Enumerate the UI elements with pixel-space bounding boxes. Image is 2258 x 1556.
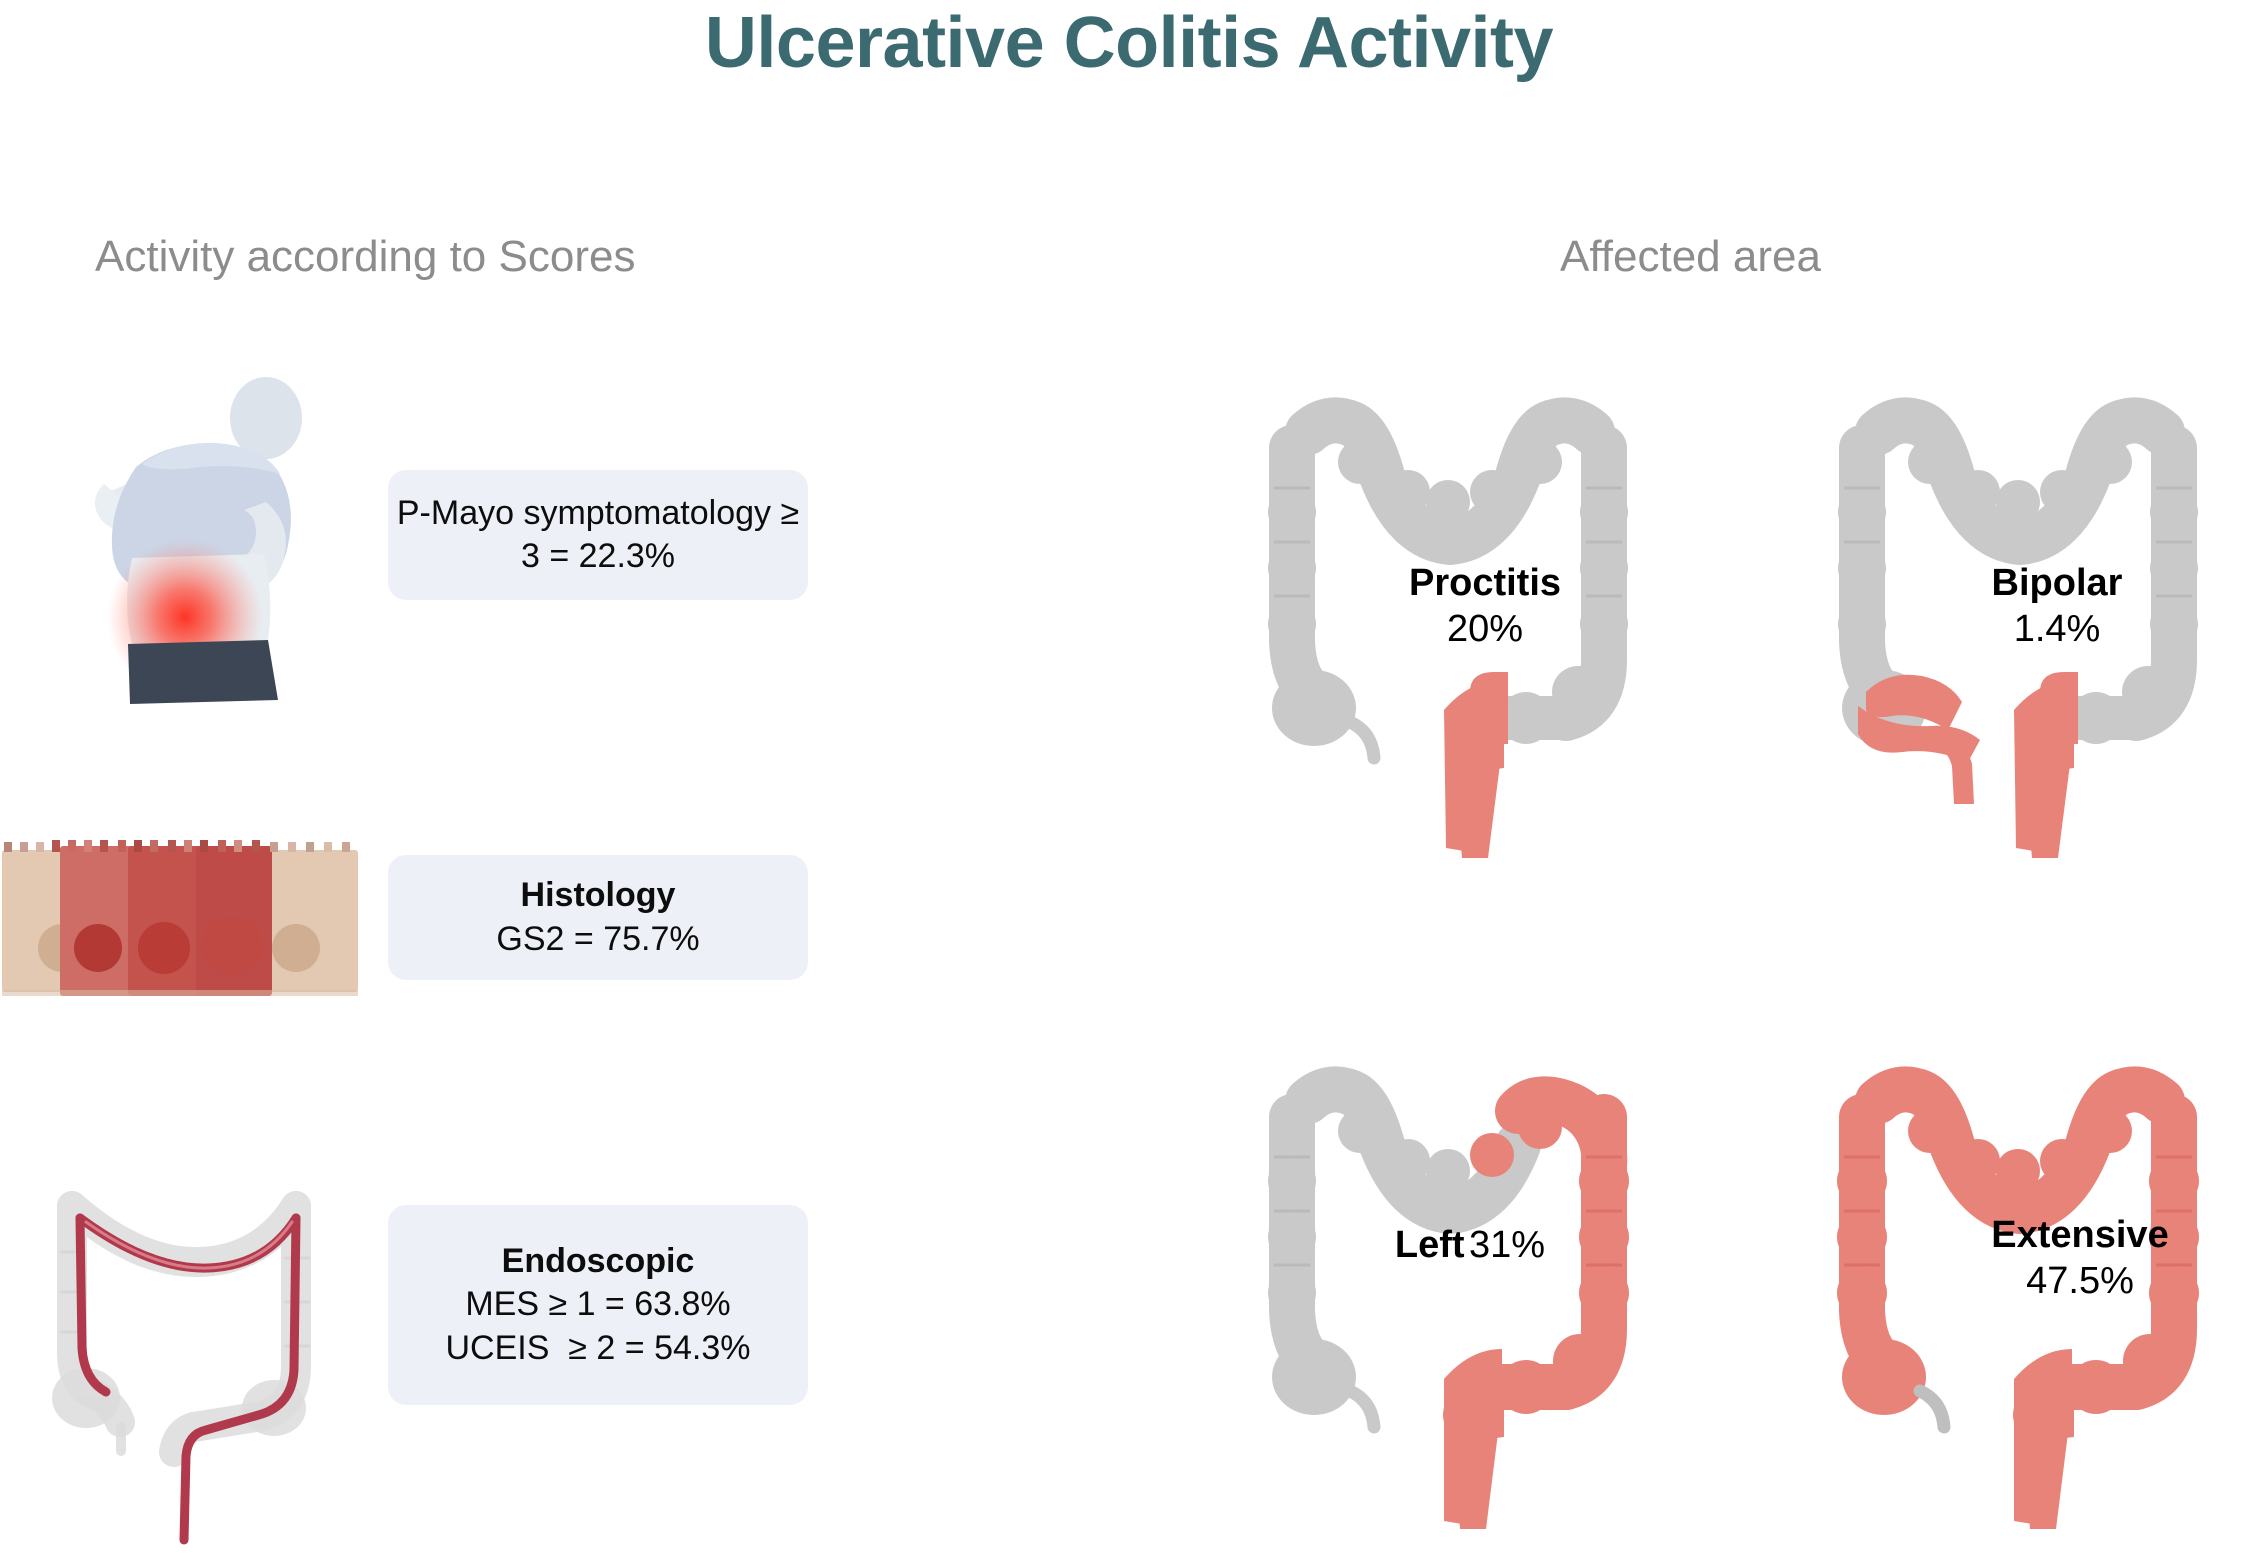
section-label-scores: Activity according to Scores (95, 232, 635, 282)
colon-proctitis-icon (1248, 392, 1648, 862)
score-card-line: GS2 = 75.7% (496, 918, 699, 961)
colon-left-colitis-icon (1248, 1055, 1648, 1535)
page-title: Ulcerative Colitis Activity (0, 2, 2258, 84)
infographic-canvas: Ulcerative Colitis Activity Activity acc… (0, 0, 2258, 1556)
score-card-p-mayo: P-Mayo symptomatology ≥ 3 = 22.3% (388, 470, 808, 600)
score-card-title: Endoscopic (502, 1240, 695, 1283)
score-card-histology: Histology GS2 = 75.7% (388, 855, 808, 980)
score-card-line: UCEIS ≥ 2 = 54.3% (446, 1327, 751, 1370)
score-card-line: 3 = 22.3% (521, 535, 675, 578)
person-abdominal-pain-icon (70, 372, 340, 707)
endoscopy-colon-icon (20, 1140, 350, 1540)
colon-extensive-icon (1818, 1055, 2218, 1535)
score-card-line: P-Mayo symptomatology ≥ (397, 492, 799, 535)
colon-bipolar-icon (1818, 392, 2218, 862)
score-card-title: Histology (521, 874, 676, 917)
histology-epithelium-icon (0, 836, 360, 1004)
section-label-affected-area: Affected area (1560, 232, 1821, 282)
score-card-line: MES ≥ 1 = 63.8% (465, 1283, 730, 1326)
score-card-endoscopic: Endoscopic MES ≥ 1 = 63.8% UCEIS ≥ 2 = 5… (388, 1205, 808, 1405)
